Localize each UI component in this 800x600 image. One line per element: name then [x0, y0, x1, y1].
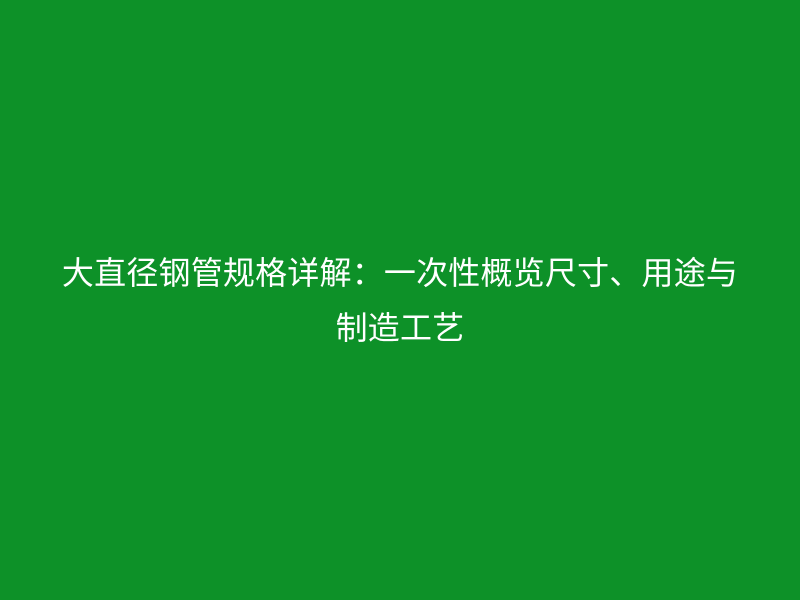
title-card-canvas: 大直径钢管规格详解：一次性概览尺寸、用途与制造工艺 [0, 0, 800, 600]
page-title: 大直径钢管规格详解：一次性概览尺寸、用途与制造工艺 [55, 246, 745, 356]
headline-block: 大直径钢管规格详解：一次性概览尺寸、用途与制造工艺 [55, 246, 745, 356]
